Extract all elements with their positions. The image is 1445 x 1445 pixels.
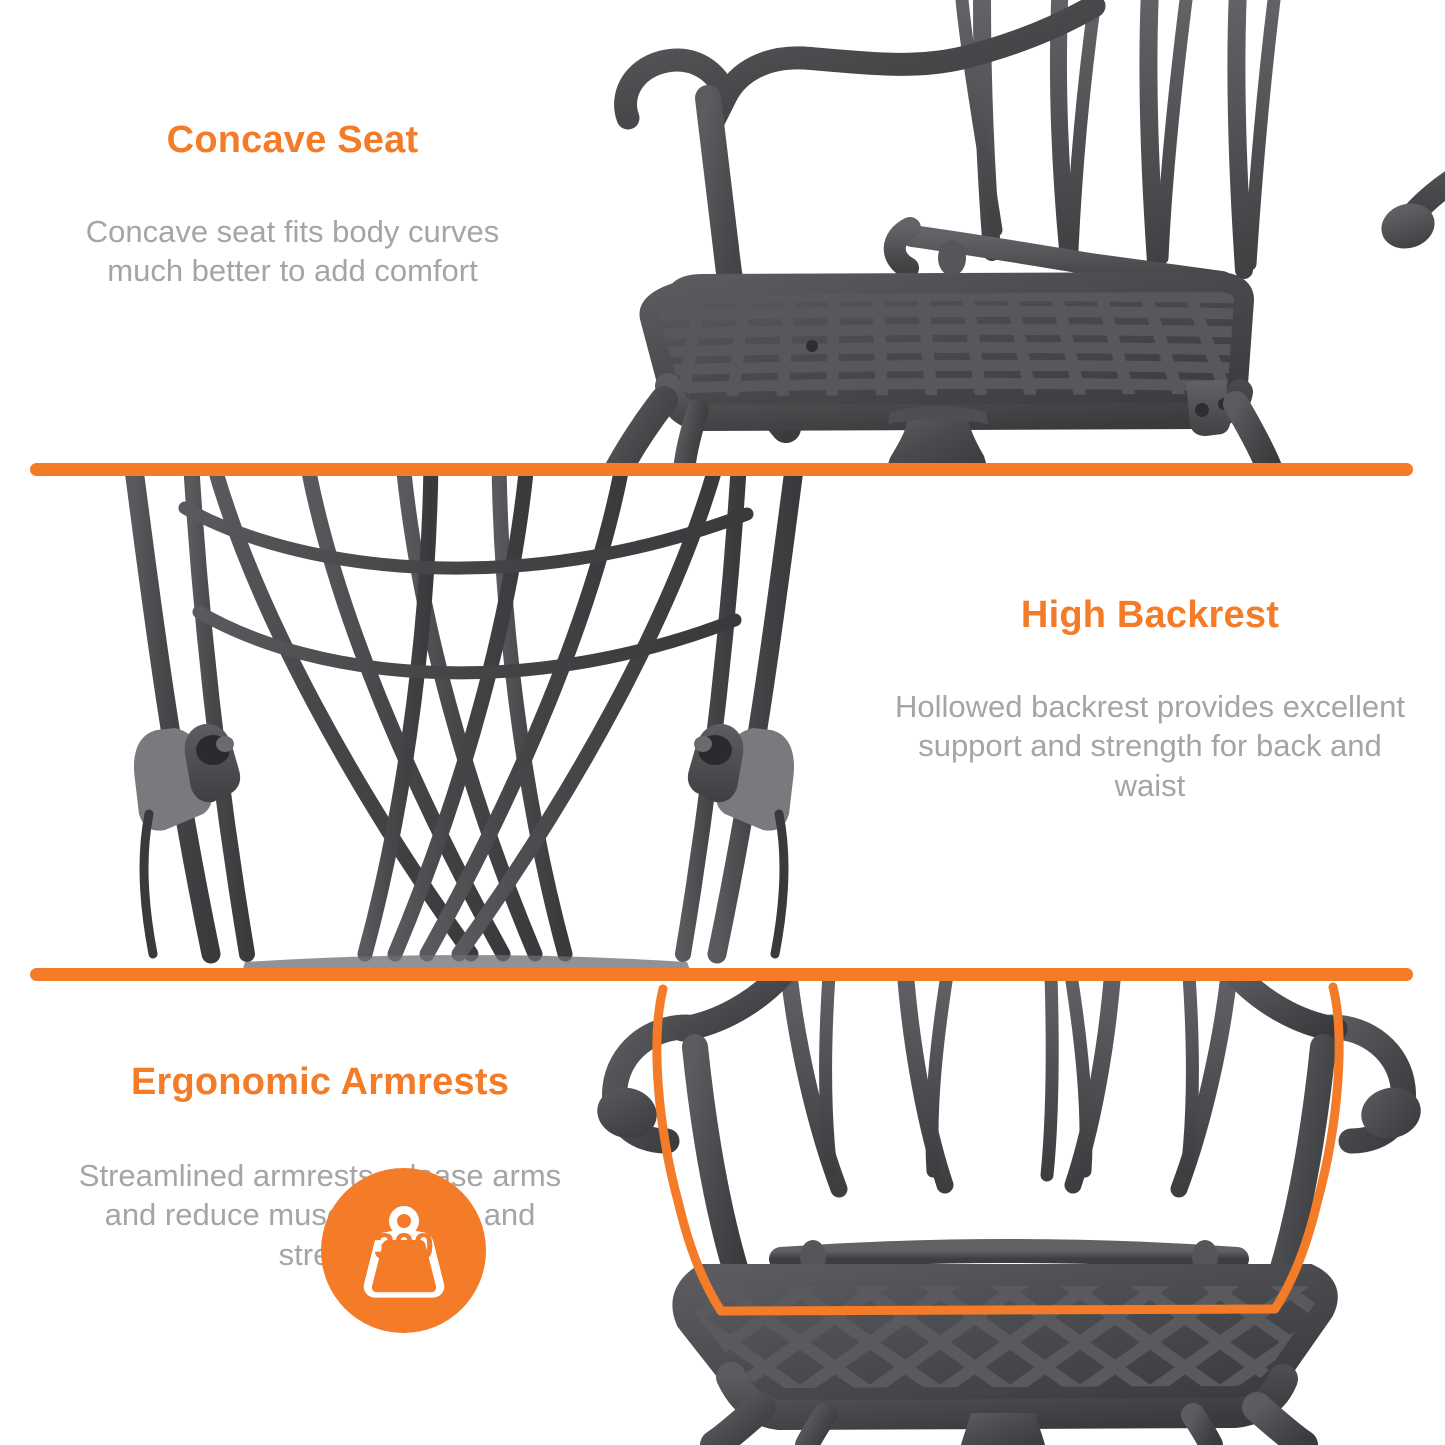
feature-text-ergonomic-armrests: Ergonomic Armrests Streamlined armrests … — [0, 1062, 640, 1274]
chair-seat-detail-image — [590, 0, 1445, 470]
weight-capacity-badge: 300 LBS — [321, 1168, 486, 1333]
section-divider-2 — [30, 968, 1413, 981]
feature-description-concave-seat: Concave seat fits body curves much bette… — [0, 212, 585, 291]
chair-backrest-detail-image — [95, 470, 835, 975]
feature-text-concave-seat: Concave Seat Concave seat fits body curv… — [0, 120, 585, 291]
feature-title-high-backrest: High Backrest — [855, 595, 1445, 637]
feature-text-high-backrest: High Backrest Hollowed backrest provides… — [855, 595, 1445, 805]
section-divider-1 — [30, 463, 1413, 476]
chair-armrests-detail-image — [575, 975, 1445, 1445]
feature-description-high-backrest: Hollowed backrest provides excellent sup… — [855, 687, 1445, 805]
feature-title-ergonomic-armrests: Ergonomic Armrests — [0, 1062, 640, 1104]
feature-title-concave-seat: Concave Seat — [0, 120, 585, 162]
product-feature-infographic: 300 LBS Concave Seat Concave seat fits b… — [0, 0, 1445, 1445]
feature-description-ergonomic-armrests: Streamlined armrests release arms and re… — [0, 1156, 640, 1274]
weight-icon — [349, 1196, 459, 1306]
